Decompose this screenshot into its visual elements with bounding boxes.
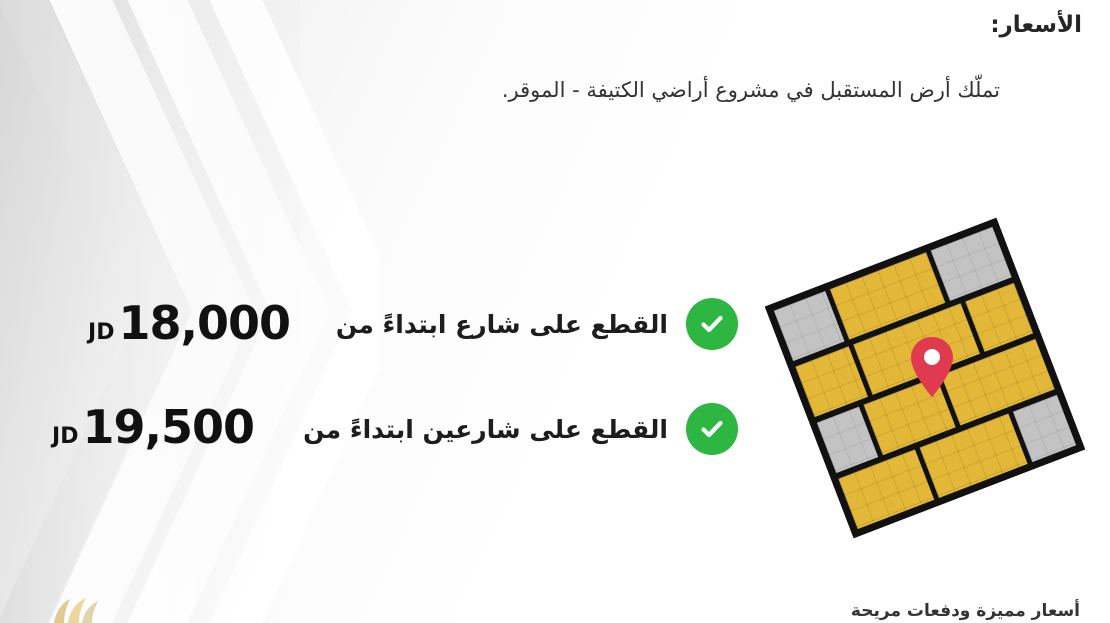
page-subtitle: تملّك أرض المستقبل في مشروع أراضي الكتيف… <box>502 78 1000 102</box>
list-item-label: القطع على شارعين ابتداءً من <box>303 415 668 444</box>
slide-root: الأسعار: تملّك أرض المستقبل في مشروع أرا… <box>0 0 1110 623</box>
price-amount: 19,500 <box>82 400 254 454</box>
price-value-2: 19,500 JD <box>42 400 254 454</box>
price-amount: 18,000 <box>118 296 290 350</box>
map-pin-icon <box>908 336 956 398</box>
check-icon <box>686 298 738 350</box>
page-title: الأسعار: <box>990 12 1082 38</box>
site-plan-illustration <box>760 218 1090 538</box>
price-currency: JD <box>88 320 114 345</box>
check-icon <box>686 403 738 455</box>
list-item-label: القطع على شارع ابتداءً من <box>336 310 668 339</box>
footer-note: أسعار مميزة ودفعات مريحة <box>851 601 1080 621</box>
list-item: القطع على شارع ابتداءً من <box>336 298 738 350</box>
leaf-decoration <box>46 597 116 623</box>
price-value-1: 18,000 JD <box>78 296 290 350</box>
price-currency: JD <box>52 424 78 449</box>
list-item: القطع على شارعين ابتداءً من <box>303 403 738 455</box>
